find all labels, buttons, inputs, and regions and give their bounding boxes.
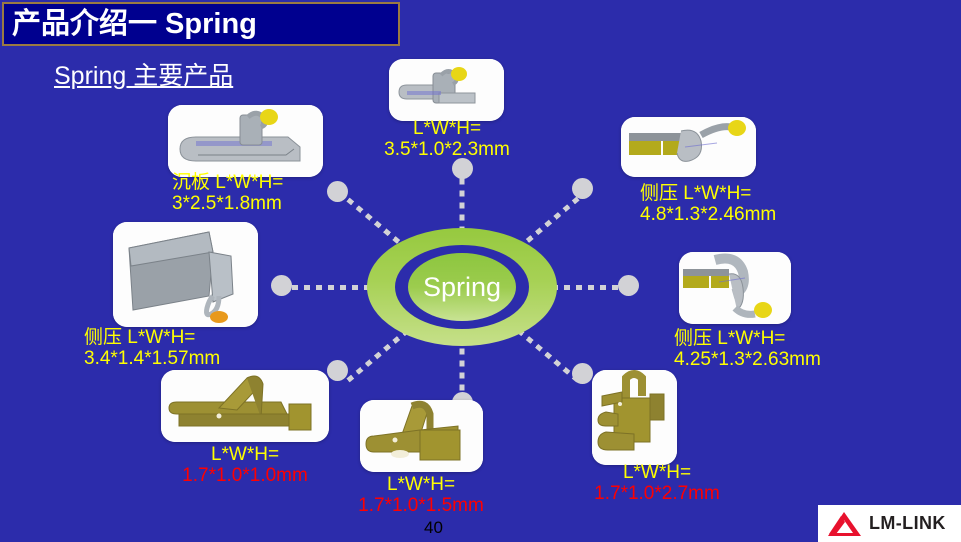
page-number: 40 xyxy=(424,518,443,538)
slide-canvas: 产品介绍一 Spring Spring 主要产品 Spring xyxy=(0,0,961,542)
caption-line2: 3*2.5*1.8mm xyxy=(172,193,283,214)
caption-top-left: 沉板 L*W*H= 3*2.5*1.8mm xyxy=(172,172,283,215)
node-dot-bottom-left xyxy=(327,360,348,381)
spring-part-gray-long-clip-icon xyxy=(168,105,323,177)
caption-line1: 侧压 L*W*H= xyxy=(674,328,821,349)
caption-line2: 1.7*1.0*1.0mm xyxy=(160,465,330,486)
spring-part-gray-clip-yellow-tip-icon xyxy=(389,59,504,121)
caption-bottom-center: L*W*H= 1.7*1.0*1.5mm xyxy=(356,474,486,517)
caption-right: 侧压 L*W*H= 4.25*1.3*2.63mm xyxy=(674,328,821,371)
caption-bottom-left: L*W*H= 1.7*1.0*1.0mm xyxy=(160,444,330,487)
slide-title-box: 产品介绍一 Spring xyxy=(2,2,400,46)
product-thumbnail-top-center[interactable] xyxy=(389,59,504,121)
product-thumbnail-right[interactable] xyxy=(679,252,791,324)
caption-line1: L*W*H= xyxy=(384,118,510,139)
connector-line-left xyxy=(292,285,370,290)
hub-label: Spring xyxy=(423,274,501,301)
caption-top-center: L*W*H= 3.5*1.0*2.3mm xyxy=(384,118,510,161)
spring-part-brass-tall-clip-icon xyxy=(592,370,677,465)
product-thumbnail-top-left[interactable] xyxy=(168,105,323,177)
center-hub[interactable]: Spring xyxy=(367,228,557,346)
caption-line2: 4.25*1.3*2.63mm xyxy=(674,349,821,370)
logo-text: LM-LINK xyxy=(869,513,946,534)
product-thumbnail-bottom-center[interactable] xyxy=(360,400,483,472)
node-dot-bottom-right xyxy=(572,363,593,384)
node-dot-top-right xyxy=(572,178,593,199)
caption-line2: 4.8*1.3*2.46mm xyxy=(640,204,776,225)
spring-part-gray-hook-yellow-tip-icon xyxy=(679,252,791,324)
connector-line-top-center xyxy=(460,179,465,233)
caption-line2: 1.7*1.0*1.5mm xyxy=(356,495,486,516)
caption-line1: L*W*H= xyxy=(356,474,486,495)
caption-line1: 沉板 L*W*H= xyxy=(172,172,283,193)
node-dot-top-center xyxy=(452,158,473,179)
caption-top-right: 侧压 L*W*H= 4.8*1.3*2.46mm xyxy=(640,183,776,226)
spring-part-gray-side-press-yellow-icon xyxy=(621,117,756,177)
lm-link-mark-icon xyxy=(825,510,863,538)
product-thumbnail-bottom-left[interactable] xyxy=(161,370,329,442)
caption-line2: 1.7*1.0*2.7mm xyxy=(568,483,746,504)
slide-subtitle: Spring 主要产品 xyxy=(54,56,233,92)
node-dot-right xyxy=(618,275,639,296)
caption-line2: 3.5*1.0*2.3mm xyxy=(384,139,510,160)
product-thumbnail-bottom-right[interactable] xyxy=(592,370,677,465)
company-logo: LM-LINK xyxy=(818,505,961,542)
spring-part-brass-arch-clip-icon xyxy=(360,400,483,472)
caption-line1: 侧压 L*W*H= xyxy=(84,327,220,348)
caption-line1: 侧压 L*W*H= xyxy=(640,183,776,204)
node-dot-left xyxy=(271,275,292,296)
caption-line2: 3.4*1.4*1.57mm xyxy=(84,348,220,369)
page-title: 产品介绍一 Spring xyxy=(4,10,257,39)
caption-line1: L*W*H= xyxy=(160,444,330,465)
caption-bottom-right: L*W*H= 1.7*1.0*2.7mm xyxy=(568,462,746,505)
spring-part-brass-flat-clip-icon xyxy=(161,370,329,442)
spring-part-gray-block-orange-tip-icon xyxy=(113,222,258,327)
caption-line1: L*W*H= xyxy=(568,462,746,483)
product-thumbnail-left[interactable] xyxy=(113,222,258,327)
hub-core: Spring xyxy=(408,253,516,321)
node-dot-top-left xyxy=(327,181,348,202)
product-thumbnail-top-right[interactable] xyxy=(621,117,756,177)
caption-left: 侧压 L*W*H= 3.4*1.4*1.57mm xyxy=(84,327,220,370)
